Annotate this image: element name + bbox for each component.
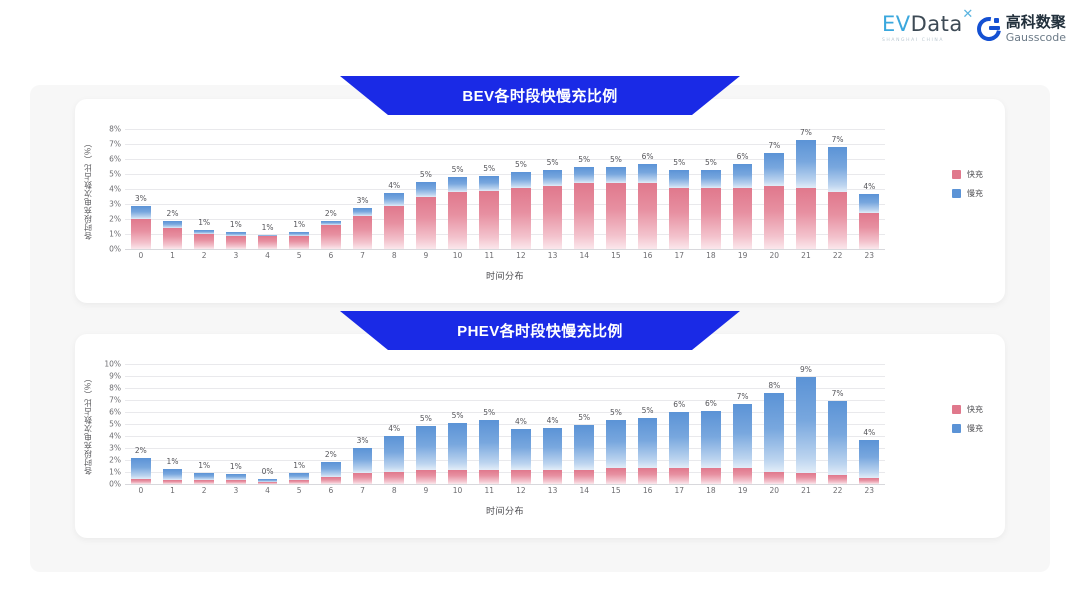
bar-segment-slow[interactable]	[479, 420, 499, 469]
x-tick-label: 15	[600, 486, 632, 495]
stacked-bar[interactable]: 5%	[543, 170, 563, 249]
bar-segment-fast[interactable]	[416, 470, 436, 484]
x-tick-label: 16	[632, 251, 664, 260]
bar-segment-slow[interactable]	[796, 140, 816, 188]
bar-segment-fast[interactable]	[226, 236, 246, 250]
stacked-bar[interactable]: 1%	[289, 473, 309, 484]
x-tick-label: 2	[188, 251, 220, 260]
bar-data-label: 5%	[547, 158, 559, 167]
bar-segment-fast[interactable]	[859, 213, 879, 249]
grid-line	[125, 484, 885, 485]
bar-segment-fast[interactable]	[258, 236, 278, 249]
stacked-bar[interactable]: 5%	[574, 167, 594, 249]
bar-segment-fast[interactable]	[638, 468, 658, 484]
stacked-bar[interactable]: 1%	[226, 474, 246, 484]
stacked-bar[interactable]: 2%	[321, 221, 341, 250]
stacked-bar[interactable]: 5%	[669, 170, 689, 249]
grid-line	[125, 249, 885, 250]
stacked-bar[interactable]: 5%	[479, 176, 499, 250]
x-tick-label: 0	[125, 251, 157, 260]
y-tick-label: 1%	[109, 230, 121, 239]
bar-segment-slow[interactable]	[733, 404, 753, 469]
bar-segment-slow[interactable]	[416, 182, 436, 196]
bar-segment-fast[interactable]	[828, 475, 848, 484]
bar-segment-fast[interactable]	[796, 188, 816, 250]
stacked-bar[interactable]: 5%	[701, 170, 721, 249]
y-tick-label: 8%	[109, 125, 121, 134]
stacked-bar[interactable]: 3%	[353, 448, 373, 484]
y-tick-label: 6%	[109, 408, 121, 417]
bar-segment-fast[interactable]	[796, 473, 816, 484]
gausscode-text: 高科数聚 Gausscode	[1006, 15, 1066, 43]
bar-slot[interactable]: 5%	[442, 129, 474, 249]
bar-slot[interactable]: 7%	[790, 129, 822, 249]
y-tick-label: 0%	[109, 480, 121, 489]
bar-data-label: 6%	[705, 399, 717, 408]
bar-segment-fast[interactable]	[258, 482, 278, 484]
stacked-bar[interactable]: 5%	[638, 418, 658, 484]
stacked-bar[interactable]: 5%	[416, 426, 436, 484]
x-tick-label: 9	[410, 486, 442, 495]
x-tick-label: 12	[505, 486, 537, 495]
bar-segment-fast[interactable]	[163, 480, 183, 484]
bar-segment-slow[interactable]	[289, 473, 309, 480]
page-header: EVData✕ SHANGHAI CHINA 高科数聚 Gausscode	[0, 0, 1080, 62]
bar-slot[interactable]: 5%	[473, 364, 505, 484]
x-tick-label: 7	[347, 251, 379, 260]
bar-segment-fast[interactable]	[384, 206, 404, 250]
y-tick-label: 8%	[109, 384, 121, 393]
bar-segment-slow[interactable]	[638, 418, 658, 468]
bar-slot[interactable]: 5%	[600, 129, 632, 249]
x-tick-label: 7	[347, 486, 379, 495]
chart-block-bev: 各时段充电次数占比（%） 0%1%2%3%4%5%6%7%8% 3%2%1%1%…	[75, 99, 1005, 303]
bar-slot[interactable]: 5%	[632, 364, 664, 484]
stacked-bar[interactable]: 5%	[606, 420, 626, 484]
bar-data-label: 5%	[673, 158, 685, 167]
bar-data-label: 6%	[737, 152, 749, 161]
bar-segment-fast[interactable]	[733, 468, 753, 484]
chart-banner-phev: PHEV各时段快慢充比例	[340, 311, 740, 350]
x-tick-label: 5	[283, 486, 315, 495]
bar-data-label: 1%	[167, 457, 179, 466]
bar-slot[interactable]: 1%	[283, 364, 315, 484]
chart-block-phev: 各时段充电次数占比（%） 0%1%2%3%4%5%6%7%8%9%10% 2%1…	[75, 334, 1005, 538]
x-tick-label: 11	[473, 251, 505, 260]
bar-segment-slow[interactable]	[384, 193, 404, 206]
legend-item-fast: 快充	[952, 404, 983, 415]
bar-data-label: 4%	[388, 424, 400, 433]
bar-slot[interactable]: 1%	[157, 364, 189, 484]
bar-segment-slow[interactable]	[543, 428, 563, 470]
legend-bev: 快充 慢充	[952, 169, 983, 199]
stacked-bar[interactable]: 4%	[384, 436, 404, 484]
stacked-bar[interactable]: 5%	[511, 172, 531, 249]
bar-segment-slow[interactable]	[543, 170, 563, 186]
bar-segment-fast[interactable]	[448, 192, 468, 249]
x-tick-label: 13	[537, 486, 569, 495]
y-axis-title-phev: 各时段充电次数占比（%）	[81, 364, 95, 484]
bar-slot[interactable]: 1%	[188, 129, 220, 249]
bar-segment-slow[interactable]	[638, 164, 658, 183]
bar-data-label: 5%	[705, 158, 717, 167]
x-tick-label: 1	[157, 486, 189, 495]
bar-slot[interactable]: 0%	[252, 364, 284, 484]
y-tick-label: 4%	[109, 432, 121, 441]
stacked-bar[interactable]: 4%	[511, 429, 531, 484]
bar-segment-fast[interactable]	[479, 191, 499, 250]
bar-data-label: 2%	[135, 446, 147, 455]
bar-segment-fast[interactable]	[479, 470, 499, 484]
bar-segment-fast[interactable]	[669, 468, 689, 484]
stacked-bar[interactable]: 3%	[353, 208, 373, 249]
y-tick-label: 2%	[109, 456, 121, 465]
bar-data-label: 5%	[515, 160, 527, 169]
x-tick-label: 4	[252, 486, 284, 495]
bar-slot[interactable]: 7%	[822, 129, 854, 249]
bar-slot[interactable]: 1%	[220, 129, 252, 249]
bar-segment-slow[interactable]	[131, 206, 151, 220]
legend-item-slow: 慢充	[952, 188, 983, 199]
bar-slot[interactable]: 5%	[568, 364, 600, 484]
bar-data-label: 1%	[230, 462, 242, 471]
x-tick-label: 20	[758, 486, 790, 495]
bar-segment-fast[interactable]	[194, 480, 214, 484]
stacked-bar[interactable]: 1%	[226, 232, 246, 249]
bar-segment-fast[interactable]	[384, 472, 404, 484]
x-tick-label: 22	[822, 251, 854, 260]
bar-data-label: 7%	[832, 135, 844, 144]
stacked-bar[interactable]: 4%	[543, 428, 563, 484]
bar-data-label: 7%	[800, 128, 812, 137]
x-tick-label: 4	[252, 251, 284, 260]
stacked-bar[interactable]: 7%	[828, 147, 848, 249]
bar-segment-slow[interactable]	[511, 429, 531, 470]
bar-data-label: 7%	[832, 389, 844, 398]
bar-slot[interactable]: 5%	[663, 129, 695, 249]
stacked-bar[interactable]: 7%	[764, 153, 784, 249]
bar-slot[interactable]: 2%	[315, 364, 347, 484]
bar-segment-fast[interactable]	[669, 188, 689, 250]
y-axis-labels-bev: 0%1%2%3%4%5%6%7%8%	[95, 129, 123, 249]
bar-data-label: 5%	[452, 411, 464, 420]
bar-segment-slow[interactable]	[764, 153, 784, 186]
bar-segment-fast[interactable]	[701, 468, 721, 484]
x-tick-label: 5	[283, 251, 315, 260]
bar-segment-slow[interactable]	[606, 167, 626, 184]
gausscode-logo: 高科数聚 Gausscode	[977, 15, 1066, 43]
bar-slot[interactable]: 5%	[600, 364, 632, 484]
stacked-bar[interactable]: 6%	[733, 164, 753, 250]
bar-segment-fast[interactable]	[511, 470, 531, 484]
stacked-bar[interactable]: 4%	[384, 193, 404, 249]
stacked-bar[interactable]: 1%	[194, 473, 214, 484]
x-tick-label: 6	[315, 486, 347, 495]
stacked-bar[interactable]: 5%	[574, 425, 594, 484]
plot-area-bev: 各时段充电次数占比（%） 0%1%2%3%4%5%6%7%8% 3%2%1%1%…	[75, 129, 1005, 303]
bar-segment-slow[interactable]	[574, 167, 594, 183]
legend-label-fast: 快充	[967, 169, 983, 180]
bar-segment-fast[interactable]	[194, 234, 214, 249]
bar-slot[interactable]: 7%	[758, 129, 790, 249]
x-tick-label: 17	[663, 251, 695, 260]
bar-segment-slow[interactable]	[479, 176, 499, 191]
bar-slot[interactable]: 7%	[727, 364, 759, 484]
bar-segment-fast[interactable]	[638, 183, 658, 249]
bar-slot[interactable]: 3%	[125, 129, 157, 249]
stacked-bar[interactable]: 2%	[131, 458, 151, 484]
bar-segment-slow[interactable]	[448, 177, 468, 192]
bar-segment-slow[interactable]	[701, 411, 721, 469]
stacked-bar[interactable]: 1%	[258, 235, 278, 249]
stacked-bar[interactable]: 5%	[416, 182, 436, 249]
bar-data-label: 1%	[198, 461, 210, 470]
bar-slot[interactable]: 1%	[220, 364, 252, 484]
bar-data-label: 4%	[863, 182, 875, 191]
stacked-bar[interactable]: 5%	[448, 423, 468, 484]
bar-slot[interactable]: 5%	[505, 129, 537, 249]
stacked-bar[interactable]: 6%	[701, 411, 721, 484]
bar-slot[interactable]: 5%	[537, 129, 569, 249]
stacked-bar[interactable]: 7%	[796, 140, 816, 250]
bar-segment-slow[interactable]	[796, 377, 816, 473]
chart-card-bev: 各时段充电次数占比（%） 0%1%2%3%4%5%6%7%8% 3%2%1%1%…	[75, 99, 1005, 303]
evdata-subtitle: SHANGHAI CHINA	[882, 38, 944, 43]
bar-segment-slow[interactable]	[384, 436, 404, 472]
x-tick-label: 14	[568, 251, 600, 260]
bar-segment-slow[interactable]	[163, 469, 183, 480]
bar-segment-fast[interactable]	[131, 219, 151, 249]
gausscode-mark-icon	[977, 17, 1001, 41]
evdata-cross-icon: ✕	[962, 8, 973, 21]
x-tick-label: 12	[505, 251, 537, 260]
bar-data-label: 7%	[768, 141, 780, 150]
bar-slot[interactable]: 2%	[157, 129, 189, 249]
y-tick-label: 5%	[109, 170, 121, 179]
bar-slot[interactable]: 5%	[442, 364, 474, 484]
bar-slot[interactable]: 6%	[727, 129, 759, 249]
bar-group-phev: 2%1%1%1%0%1%2%3%4%5%5%5%4%4%5%5%5%6%6%7%…	[125, 364, 885, 484]
bar-segment-fast[interactable]	[353, 216, 373, 249]
bar-segment-fast[interactable]	[859, 478, 879, 484]
bar-segment-slow[interactable]	[574, 425, 594, 469]
legend-swatch-slow	[952, 424, 961, 433]
bar-segment-fast[interactable]	[511, 188, 531, 250]
bar-segment-slow[interactable]	[669, 412, 689, 468]
bar-segment-fast[interactable]	[289, 480, 309, 484]
slide-page: EVData✕ SHANGHAI CHINA 高科数聚 Gausscode	[0, 0, 1080, 608]
bar-slot[interactable]: 5%	[473, 129, 505, 249]
bar-segment-fast[interactable]	[733, 188, 753, 250]
bar-data-label: 2%	[167, 209, 179, 218]
bar-data-label: 5%	[420, 170, 432, 179]
bar-data-label: 5%	[610, 155, 622, 164]
bar-slot[interactable]: 5%	[410, 364, 442, 484]
x-tick-label: 19	[727, 486, 759, 495]
bar-segment-slow[interactable]	[859, 194, 879, 214]
bar-segment-slow[interactable]	[163, 221, 183, 228]
bar-slot[interactable]: 5%	[695, 129, 727, 249]
bar-segment-fast[interactable]	[543, 186, 563, 249]
bar-segment-slow[interactable]	[353, 208, 373, 216]
x-axis-labels-phev: 01234567891011121314151617181920212223	[125, 486, 885, 495]
stacked-bar[interactable]: 3%	[131, 206, 151, 250]
bar-slot[interactable]: 1%	[252, 129, 284, 249]
y-tick-label: 3%	[109, 200, 121, 209]
bar-data-label: 7%	[737, 392, 749, 401]
bar-segment-fast[interactable]	[131, 479, 151, 484]
y-tick-label: 5%	[109, 420, 121, 429]
bar-slot[interactable]: 6%	[663, 364, 695, 484]
bar-slot[interactable]: 4%	[378, 364, 410, 484]
legend-swatch-fast	[952, 170, 961, 179]
bar-segment-slow[interactable]	[416, 426, 436, 469]
bar-slot[interactable]: 6%	[632, 129, 664, 249]
x-tick-label: 22	[822, 486, 854, 495]
bar-segment-fast[interactable]	[416, 197, 436, 250]
bar-segment-fast[interactable]	[828, 192, 848, 249]
gausscode-cn-name: 高科数聚	[1006, 15, 1066, 30]
bar-data-label: 1%	[293, 220, 305, 229]
stacked-bar[interactable]: 8%	[764, 393, 784, 484]
bar-segment-slow[interactable]	[511, 172, 531, 188]
bar-slot[interactable]: 2%	[315, 129, 347, 249]
x-tick-label: 11	[473, 486, 505, 495]
bar-segment-fast[interactable]	[606, 468, 626, 484]
bar-slot[interactable]: 4%	[853, 364, 885, 484]
stacked-bar[interactable]: 0%	[258, 479, 278, 484]
bar-segment-slow[interactable]	[606, 420, 626, 468]
bar-segment-fast[interactable]	[226, 480, 246, 484]
bar-segment-slow[interactable]	[828, 401, 848, 475]
bar-segment-slow[interactable]	[828, 147, 848, 192]
x-tick-label: 2	[188, 486, 220, 495]
bar-slot[interactable]: 3%	[347, 364, 379, 484]
bar-slot[interactable]: 9%	[790, 364, 822, 484]
y-tick-label: 7%	[109, 396, 121, 405]
x-tick-label: 23	[853, 486, 885, 495]
bar-segment-slow[interactable]	[131, 458, 151, 479]
stacked-bar[interactable]: 1%	[194, 230, 214, 250]
bar-segment-slow[interactable]	[669, 170, 689, 187]
stacked-bar[interactable]: 2%	[321, 462, 341, 484]
bar-data-label: 1%	[230, 220, 242, 229]
x-axis-title-phev: 时间分布	[125, 504, 885, 517]
bar-segment-slow[interactable]	[448, 423, 468, 470]
bar-slot[interactable]: 4%	[505, 364, 537, 484]
bar-segment-fast[interactable]	[321, 225, 341, 249]
x-tick-label: 23	[853, 251, 885, 260]
x-tick-label: 8	[378, 251, 410, 260]
bar-data-label: 9%	[800, 365, 812, 374]
legend-phev: 快充 慢充	[952, 404, 983, 434]
x-tick-label: 3	[220, 251, 252, 260]
stacked-bar[interactable]: 4%	[859, 194, 879, 250]
stacked-bar[interactable]: 7%	[733, 404, 753, 484]
bar-segment-fast[interactable]	[764, 472, 784, 484]
y-tick-label: 6%	[109, 155, 121, 164]
chart-banner-bev: BEV各时段快慢充比例	[340, 76, 740, 115]
bar-segment-fast[interactable]	[701, 188, 721, 250]
bar-segment-fast[interactable]	[543, 470, 563, 484]
bar-slot[interactable]: 6%	[695, 364, 727, 484]
bar-segment-fast[interactable]	[163, 228, 183, 249]
bar-segment-slow[interactable]	[321, 462, 341, 476]
bar-segment-slow[interactable]	[701, 170, 721, 187]
bar-slot[interactable]: 4%	[378, 129, 410, 249]
legend-label-fast: 快充	[967, 404, 983, 415]
bar-segment-fast[interactable]	[353, 473, 373, 484]
bar-slot[interactable]: 8%	[758, 364, 790, 484]
bar-data-label: 5%	[642, 406, 654, 415]
stacked-bar[interactable]: 4%	[859, 440, 879, 484]
bar-segment-fast[interactable]	[764, 186, 784, 249]
bar-segment-fast[interactable]	[606, 183, 626, 249]
stacked-bar[interactable]: 6%	[669, 412, 689, 484]
stacked-bar[interactable]: 5%	[448, 177, 468, 249]
bar-segment-fast[interactable]	[574, 183, 594, 249]
legend-label-slow: 慢充	[967, 423, 983, 434]
stacked-bar[interactable]: 6%	[638, 164, 658, 249]
bar-data-label: 2%	[325, 450, 337, 459]
bar-data-label: 3%	[135, 194, 147, 203]
evdata-logo: EVData✕ SHANGHAI CHINA	[882, 14, 963, 43]
bar-segment-fast[interactable]	[321, 477, 341, 484]
stacked-bar[interactable]: 7%	[828, 401, 848, 484]
bar-slot[interactable]: 5%	[568, 129, 600, 249]
legend-swatch-slow	[952, 189, 961, 198]
y-tick-label: 9%	[109, 372, 121, 381]
evdata-data-text: Data	[911, 12, 963, 36]
bar-segment-fast[interactable]	[448, 470, 468, 484]
x-tick-label: 9	[410, 251, 442, 260]
bar-slot[interactable]: 7%	[822, 364, 854, 484]
x-tick-label: 3	[220, 486, 252, 495]
x-tick-label: 17	[663, 486, 695, 495]
bar-slot[interactable]: 2%	[125, 364, 157, 484]
stacked-bar[interactable]: 1%	[289, 232, 309, 249]
bar-segment-slow[interactable]	[733, 164, 753, 188]
bar-slot[interactable]: 4%	[853, 129, 885, 249]
bar-segment-slow[interactable]	[194, 473, 214, 480]
bar-slot[interactable]: 4%	[537, 364, 569, 484]
bar-segment-slow[interactable]	[764, 393, 784, 472]
x-tick-label: 21	[790, 486, 822, 495]
x-tick-label: 18	[695, 486, 727, 495]
bar-segment-slow[interactable]	[353, 448, 373, 473]
bar-slot[interactable]: 3%	[347, 129, 379, 249]
bar-data-label: 1%	[262, 223, 274, 232]
stacked-bar[interactable]: 1%	[163, 469, 183, 484]
stacked-bar[interactable]: 5%	[479, 420, 499, 484]
bar-segment-slow[interactable]	[859, 440, 879, 478]
bar-group-bev: 3%2%1%1%1%1%2%3%4%5%5%5%5%5%5%5%6%5%5%6%…	[125, 129, 885, 249]
bar-segment-fast[interactable]	[289, 236, 309, 250]
legend-item-fast: 快充	[952, 169, 983, 180]
bar-data-label: 5%	[420, 414, 432, 423]
bar-slot[interactable]: 5%	[410, 129, 442, 249]
bar-segment-fast[interactable]	[574, 470, 594, 484]
bar-data-label: 5%	[483, 408, 495, 417]
stacked-bar[interactable]: 9%	[796, 377, 816, 484]
bar-data-label: 4%	[515, 417, 527, 426]
stacked-bar[interactable]: 2%	[163, 221, 183, 249]
bar-slot[interactable]: 1%	[283, 129, 315, 249]
x-tick-label: 8	[378, 486, 410, 495]
stacked-bar[interactable]: 5%	[606, 167, 626, 250]
bar-data-label: 4%	[863, 428, 875, 437]
bar-slot[interactable]: 1%	[188, 364, 220, 484]
